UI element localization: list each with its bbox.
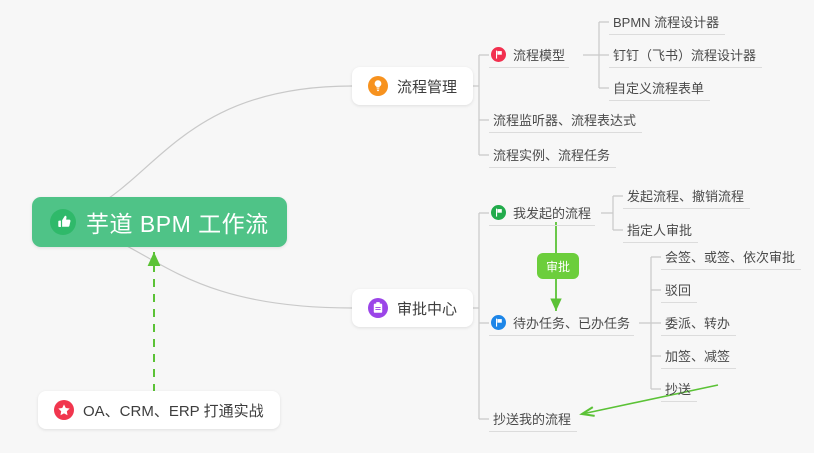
mindmap-canvas: 芋道 BPM 工作流 流程管理 流程模型 流程监听器、流程表达式 流程实例、流	[0, 0, 814, 453]
wire-started-trunk	[601, 196, 623, 230]
leaf-label-add-remove-sign: 加签、减签	[665, 346, 730, 365]
leaf-label-assignee-approval: 指定人审批	[627, 220, 692, 239]
topic-label-my-started-process: 我发起的流程	[513, 203, 591, 222]
floating-node-label: OA、CRM、ERP 打通实战	[83, 400, 264, 421]
flag-icon	[491, 205, 506, 220]
branch-label-process-management: 流程管理	[397, 76, 457, 97]
branch-node-process-management[interactable]: 流程管理	[352, 67, 473, 105]
topic-node-todo-done-task[interactable]: 待办任务、已办任务	[489, 310, 634, 336]
leaf-label-instance-task: 流程实例、流程任务	[493, 145, 610, 164]
leaf-node-start-cancel-process[interactable]: 发起流程、撤销流程	[623, 183, 750, 209]
flag-icon	[491, 47, 506, 62]
lightbulb-icon	[368, 76, 388, 96]
leaf-label-start-cancel-process: 发起流程、撤销流程	[627, 186, 744, 205]
approval-badge[interactable]: 审批	[537, 253, 579, 279]
leaf-label-dingtalk-designer: 钉钉（飞书）流程设计器	[613, 45, 756, 64]
wire-todo-trunk	[639, 257, 661, 389]
leaf-node-cc-my-process[interactable]: 抄送我的流程	[489, 406, 577, 432]
star-icon	[54, 400, 74, 420]
leaf-node-listener-expression[interactable]: 流程监听器、流程表达式	[489, 107, 642, 133]
root-node[interactable]: 芋道 BPM 工作流	[32, 197, 287, 247]
topic-node-process-model[interactable]: 流程模型	[489, 42, 569, 68]
leaf-node-bpmn-designer[interactable]: BPMN 流程设计器	[609, 9, 725, 35]
branch-node-approval-center[interactable]: 审批中心	[352, 289, 473, 327]
flag-icon	[491, 315, 506, 330]
leaf-label-reject: 驳回	[665, 280, 691, 299]
topic-label-todo-done-task: 待办任务、已办任务	[513, 313, 630, 332]
leaf-label-delegate-transfer: 委派、转办	[665, 313, 730, 332]
leaf-node-delegate-transfer[interactable]: 委派、转办	[661, 310, 736, 336]
topic-node-my-started-process[interactable]: 我发起的流程	[489, 200, 595, 226]
leaf-node-dingtalk-designer[interactable]: 钉钉（飞书）流程设计器	[609, 42, 762, 68]
leaf-node-add-remove-sign[interactable]: 加签、减签	[661, 343, 736, 369]
branch-label-approval-center: 审批中心	[397, 298, 457, 319]
approval-badge-label: 审批	[546, 258, 570, 275]
annotation-cc-arrow	[582, 385, 718, 414]
leaf-node-assignee-approval[interactable]: 指定人审批	[623, 217, 698, 243]
leaf-label-bpmn-designer: BPMN 流程设计器	[613, 12, 719, 31]
leaf-label-cc-my-process: 抄送我的流程	[493, 409, 571, 428]
leaf-label-countersign: 会签、或签、依次审批	[665, 247, 795, 266]
root-label: 芋道 BPM 工作流	[86, 205, 269, 239]
leaf-node-custom-form[interactable]: 自定义流程表单	[609, 75, 710, 101]
clipboard-icon	[368, 298, 388, 318]
leaf-node-reject[interactable]: 驳回	[661, 277, 697, 303]
leaf-node-instance-task[interactable]: 流程实例、流程任务	[489, 142, 616, 168]
floating-node-integration[interactable]: OA、CRM、ERP 打通实战	[38, 391, 280, 429]
leaf-label-cc: 抄送	[665, 379, 691, 398]
thumbs-up-icon	[50, 209, 76, 235]
leaf-label-listener-expression: 流程监听器、流程表达式	[493, 110, 636, 129]
leaf-node-countersign[interactable]: 会签、或签、依次审批	[661, 244, 801, 270]
leaf-label-custom-form: 自定义流程表单	[613, 78, 704, 97]
wire-model-trunk	[583, 22, 609, 88]
leaf-node-cc[interactable]: 抄送	[661, 376, 697, 402]
topic-label-process-model: 流程模型	[513, 45, 565, 64]
